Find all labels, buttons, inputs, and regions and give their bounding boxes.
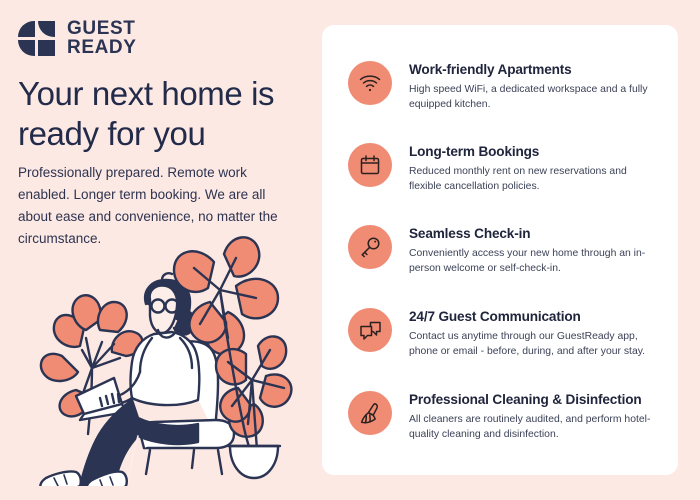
feature-title: Work-friendly Apartments <box>409 62 654 79</box>
feature-text: Professional Cleaning & Disinfection All… <box>409 391 654 442</box>
feature-description: All cleaners are routinely audited, and … <box>409 412 654 442</box>
key-icon <box>348 225 392 269</box>
feature-text: Seamless Check-in Conveniently access yo… <box>409 225 654 276</box>
person-working-on-laptop-in-armchair-with-plants-illustration <box>22 228 312 486</box>
calendar-icon <box>348 143 392 187</box>
brand-logo[interactable]: GUEST READY <box>18 20 137 57</box>
feature-title: Professional Cleaning & Disinfection <box>409 392 654 409</box>
feature-description: Conveniently access your new home throug… <box>409 246 654 276</box>
feature-text: 24/7 Guest Communication Contact us anyt… <box>409 308 654 359</box>
feature-item-professional-cleaning[interactable]: Professional Cleaning & Disinfection All… <box>348 391 664 442</box>
brand-name-line1: GUEST <box>67 20 137 39</box>
features-panel: Work-friendly Apartments High speed WiFi… <box>322 25 678 475</box>
feature-text: Work-friendly Apartments High speed WiFi… <box>409 61 654 112</box>
feature-item-seamless-check-in[interactable]: Seamless Check-in Conveniently access yo… <box>348 225 664 276</box>
feature-item-work-friendly-apartments[interactable]: Work-friendly Apartments High speed WiFi… <box>348 61 664 112</box>
brand-name-line2: READY <box>67 39 137 58</box>
feature-description: Reduced monthly rent on new reservations… <box>409 164 654 194</box>
guestready-quadrant-logo-icon <box>18 21 56 56</box>
broom-icon <box>348 391 392 435</box>
chat-bubbles-icon <box>348 308 392 352</box>
feature-title: Seamless Check-in <box>409 226 654 243</box>
feature-item-long-term-bookings[interactable]: Long-term Bookings Reduced monthly rent … <box>348 143 664 194</box>
feature-title: 24/7 Guest Communication <box>409 309 654 326</box>
feature-title: Long-term Bookings <box>409 144 654 161</box>
feature-text: Long-term Bookings Reduced monthly rent … <box>409 143 654 194</box>
feature-description: High speed WiFi, a dedicated workspace a… <box>409 82 654 112</box>
promo-page: GUEST READY Your next home is ready for … <box>0 0 700 500</box>
feature-item-guest-communication[interactable]: 24/7 Guest Communication Contact us anyt… <box>348 308 664 359</box>
page-title: Your next home is ready for you <box>18 74 318 155</box>
wifi-icon <box>348 61 392 105</box>
left-column: GUEST READY Your next home is ready for … <box>0 0 322 500</box>
brand-wordmark: GUEST READY <box>67 20 137 57</box>
feature-description: Contact us anytime through our GuestRead… <box>409 329 654 359</box>
